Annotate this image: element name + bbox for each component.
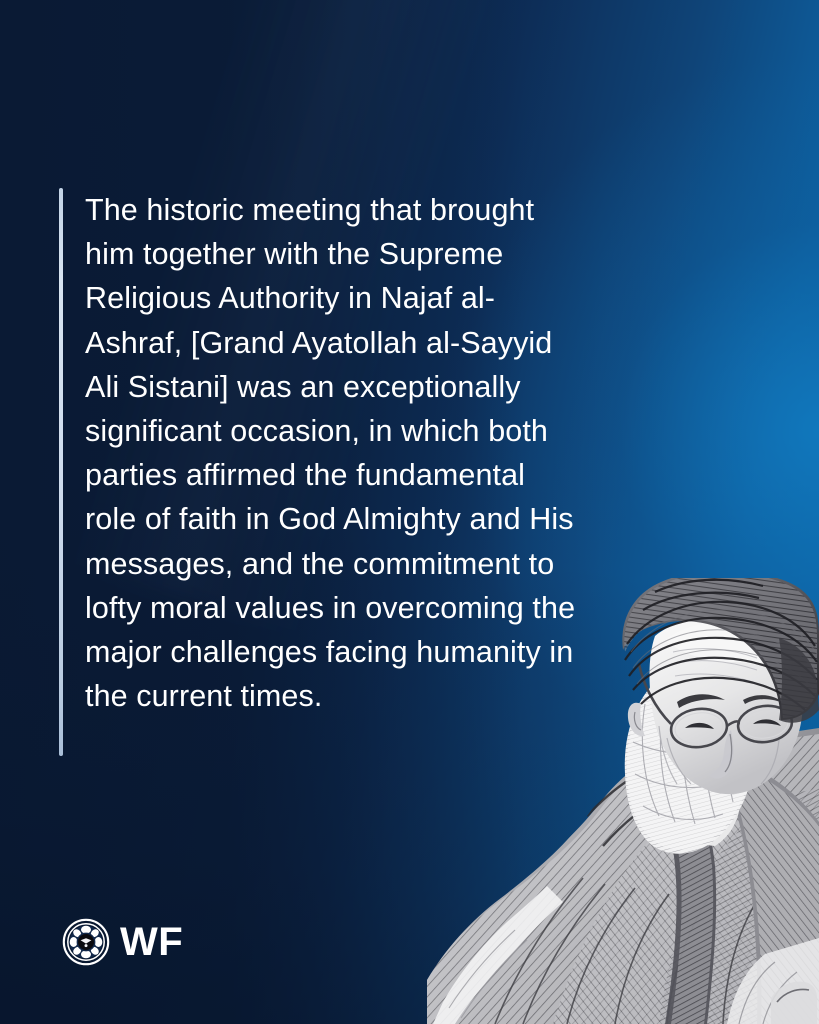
brand-logo[interactable]: WF bbox=[62, 918, 183, 966]
quote-text: The historic meeting that brought him to… bbox=[63, 188, 577, 756]
logo-wordmark: WF bbox=[120, 922, 183, 962]
quote-poster: The historic meeting that brought him to… bbox=[0, 0, 819, 1024]
circular-rosette-emblem-icon bbox=[62, 918, 110, 966]
quote-block: The historic meeting that brought him to… bbox=[59, 188, 579, 756]
